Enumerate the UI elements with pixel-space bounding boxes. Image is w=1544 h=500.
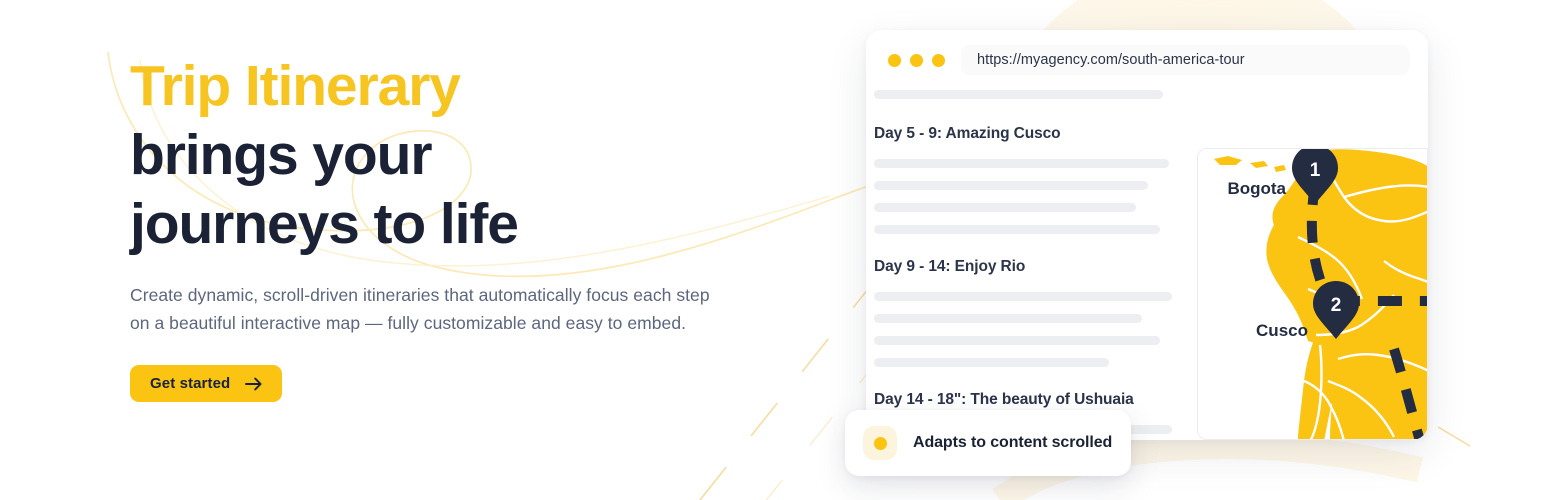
- adapts-chip: Adapts to content scrolled: [845, 410, 1131, 476]
- skeleton-line: [874, 159, 1169, 168]
- map-panel[interactable]: 2 1 Bogota Cusco: [1197, 148, 1428, 440]
- headline-accent: Trip Itinerary: [130, 52, 750, 121]
- headline-line-3: journeys to life: [130, 190, 750, 259]
- window-dot-icon[interactable]: [932, 54, 945, 67]
- skeleton-line: [874, 90, 1163, 99]
- skeleton-line: [874, 336, 1160, 345]
- address-bar[interactable]: https://myagency.com/south-america-tour: [961, 45, 1410, 75]
- skeleton-line: [874, 203, 1136, 212]
- skeleton-line: [874, 181, 1148, 190]
- skeleton-line: [874, 225, 1160, 234]
- itinerary-list: Day 5 - 9: Amazing Cusco Day 9 - 14: Enj…: [874, 90, 1172, 440]
- hero-copy: Trip Itinerary brings your journeys to l…: [130, 52, 750, 402]
- window-dot-icon[interactable]: [910, 54, 923, 67]
- map-label-bogota: Bogota: [1227, 179, 1286, 198]
- itinerary-day-block[interactable]: Day 9 - 14: Enjoy Rio: [874, 258, 1172, 367]
- get-started-label: Get started: [150, 375, 230, 392]
- itinerary-panel[interactable]: Day 5 - 9: Amazing Cusco Day 9 - 14: Enj…: [866, 90, 1198, 440]
- itinerary-day-title: Day 9 - 14: Enjoy Rio: [874, 258, 1172, 276]
- browser-viewport: Day 5 - 9: Amazing Cusco Day 9 - 14: Enj…: [866, 90, 1428, 440]
- browser-toolbar: https://myagency.com/south-america-tour: [866, 30, 1428, 90]
- browser-mockup: https://myagency.com/south-america-tour …: [866, 30, 1428, 440]
- adapts-chip-label: Adapts to content scrolled: [913, 434, 1112, 452]
- south-america-map: 2 1 Bogota Cusco: [1198, 149, 1428, 440]
- get-started-button[interactable]: Get started: [130, 365, 282, 402]
- hero-section: Trip Itinerary brings your journeys to l…: [0, 0, 1544, 500]
- map-pin-1-label: 1: [1310, 160, 1321, 181]
- map-pin-2-label: 2: [1331, 295, 1342, 316]
- hero-subcopy: Create dynamic, scroll-driven itinerarie…: [130, 281, 730, 337]
- itinerary-day-block[interactable]: Day 5 - 9: Amazing Cusco: [874, 125, 1172, 234]
- address-bar-url: https://myagency.com/south-america-tour: [977, 52, 1245, 68]
- skeleton-line: [874, 314, 1142, 323]
- window-traffic-lights: [884, 54, 945, 67]
- skeleton-line: [874, 358, 1109, 367]
- status-dot-icon: [863, 426, 897, 460]
- itinerary-day-title: Day 5 - 9: Amazing Cusco: [874, 125, 1172, 143]
- headline-line-2: brings your: [130, 121, 750, 190]
- skeleton-line: [874, 292, 1172, 301]
- window-dot-icon[interactable]: [888, 54, 901, 67]
- status-dot-inner: [874, 437, 887, 450]
- map-label-cusco: Cusco: [1256, 321, 1308, 340]
- itinerary-day-title: Day 14 - 18": The beauty of Ushuaia: [874, 391, 1172, 409]
- arrow-right-icon: [245, 377, 262, 391]
- page-title: Trip Itinerary brings your journeys to l…: [130, 52, 750, 259]
